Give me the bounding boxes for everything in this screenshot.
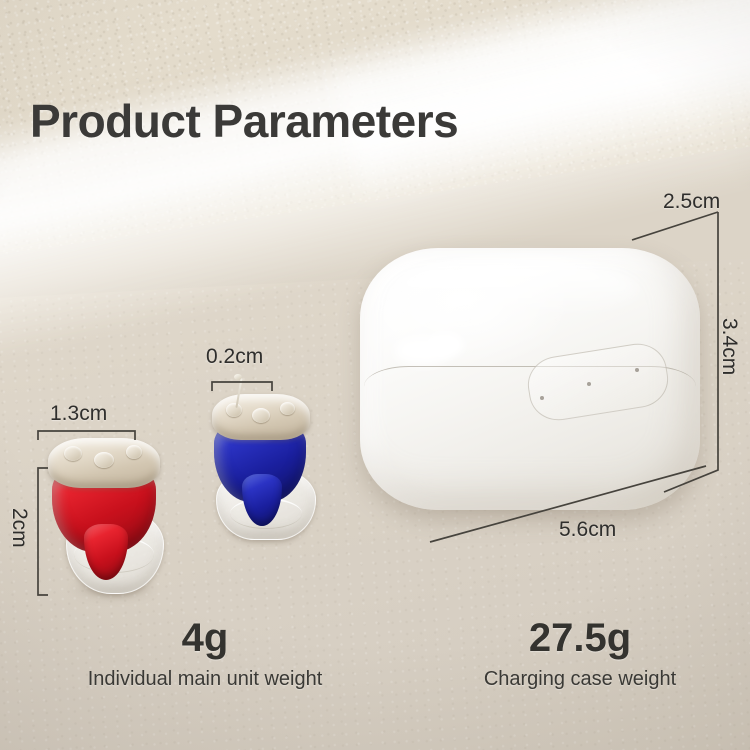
dimension-label-width: 5.6cm (559, 518, 616, 542)
spec-unit-weight-caption: Individual main unit weight (35, 668, 375, 691)
wire-thickness-bracket (212, 382, 272, 391)
dimension-label-wire-thickness: 0.2cm (206, 345, 263, 369)
product-parameters-image: Product Parameters (0, 0, 750, 750)
dimension-label-faceplate-width: 1.3cm (50, 402, 107, 426)
faceplate-width-bracket (38, 431, 135, 440)
spec-case-weight-caption: Charging case weight (430, 668, 730, 691)
dimension-label-height: 3.4cm (717, 318, 741, 375)
dimension-label-unit-height: 2cm (7, 508, 31, 548)
spec-case-weight-value: 27.5g (430, 618, 730, 658)
spec-unit-weight: 4g Individual main unit weight (35, 618, 375, 691)
dimension-label-depth: 2.5cm (663, 190, 720, 214)
unit-height-bracket (38, 468, 48, 595)
case-outline-dimension-path (664, 212, 718, 492)
spec-unit-weight-value: 4g (35, 618, 375, 658)
spec-case-weight: 27.5g Charging case weight (430, 618, 730, 691)
depth-leader-line (632, 212, 718, 240)
